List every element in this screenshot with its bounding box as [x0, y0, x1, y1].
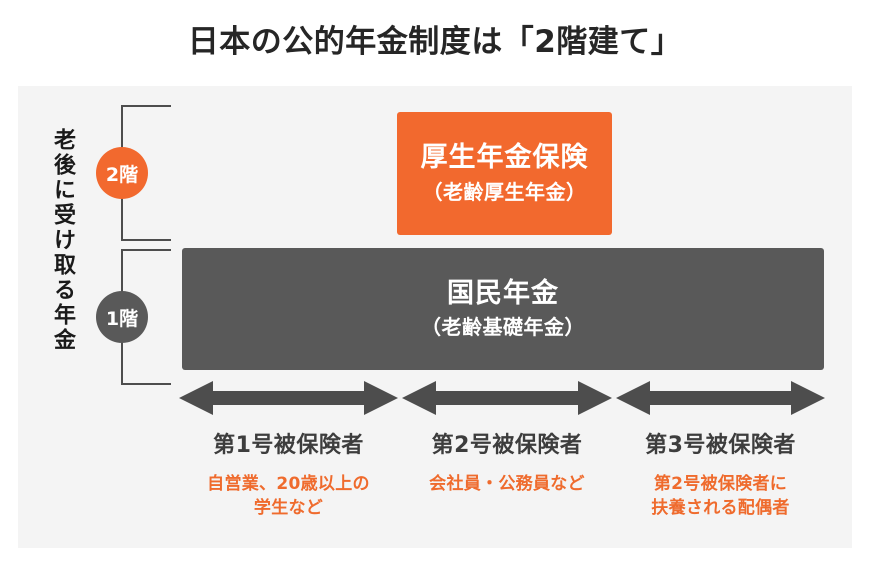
page-title: 日本の公的年金制度は「2階建て」 [0, 22, 870, 62]
floor-badge-second: 2階 [96, 147, 148, 199]
group-1-description: 自営業、20歳以上の 学生など [179, 472, 398, 521]
group-3-description: 第2号被保険者に 扶養される配偶者 [616, 472, 825, 521]
tier-kosei-title: 厚生年金保険 [421, 141, 589, 175]
tier-kosei-subtitle: （老齢厚生年金） [423, 179, 587, 206]
floor-badge-first: 1階 [96, 291, 148, 343]
group-label-1: 第1号被保険者 自営業、20歳以上の 学生など [179, 432, 398, 521]
group-1-description-line2: 学生など [179, 496, 398, 521]
group-label-2: 第2号被保険者 会社員・公務員など [402, 432, 612, 496]
arrow-group-1 [179, 381, 398, 415]
tier-box-kokumin-nenkin: 国民年金 （老齢基礎年金） [182, 248, 824, 370]
vertical-side-label: 老後に受け取る年金 [40, 128, 74, 353]
arrow-group-3 [616, 381, 825, 415]
tier-kokumin-title: 国民年金 [447, 277, 559, 311]
group-1-title: 第1号被保険者 [179, 432, 398, 461]
group-2-description-line1: 会社員・公務員など [402, 472, 612, 497]
group-3-description-line1: 第2号被保険者に [616, 472, 825, 497]
group-3-description-line2: 扶養される配偶者 [616, 496, 825, 521]
tier-kokumin-subtitle: （老齢基礎年金） [421, 314, 585, 341]
group-3-title: 第3号被保険者 [616, 432, 825, 461]
group-2-title: 第2号被保険者 [402, 432, 612, 461]
group-label-3: 第3号被保険者 第2号被保険者に 扶養される配偶者 [616, 432, 825, 521]
group-1-description-line1: 自営業、20歳以上の [179, 472, 398, 497]
group-2-description: 会社員・公務員など [402, 472, 612, 497]
arrow-group-2 [402, 381, 612, 415]
diagram-root: 日本の公的年金制度は「2階建て」 老後に受け取る年金 2階 1階 厚生年金保険 … [0, 0, 870, 583]
tier-box-kosei-nenkin: 厚生年金保険 （老齢厚生年金） [397, 112, 612, 235]
